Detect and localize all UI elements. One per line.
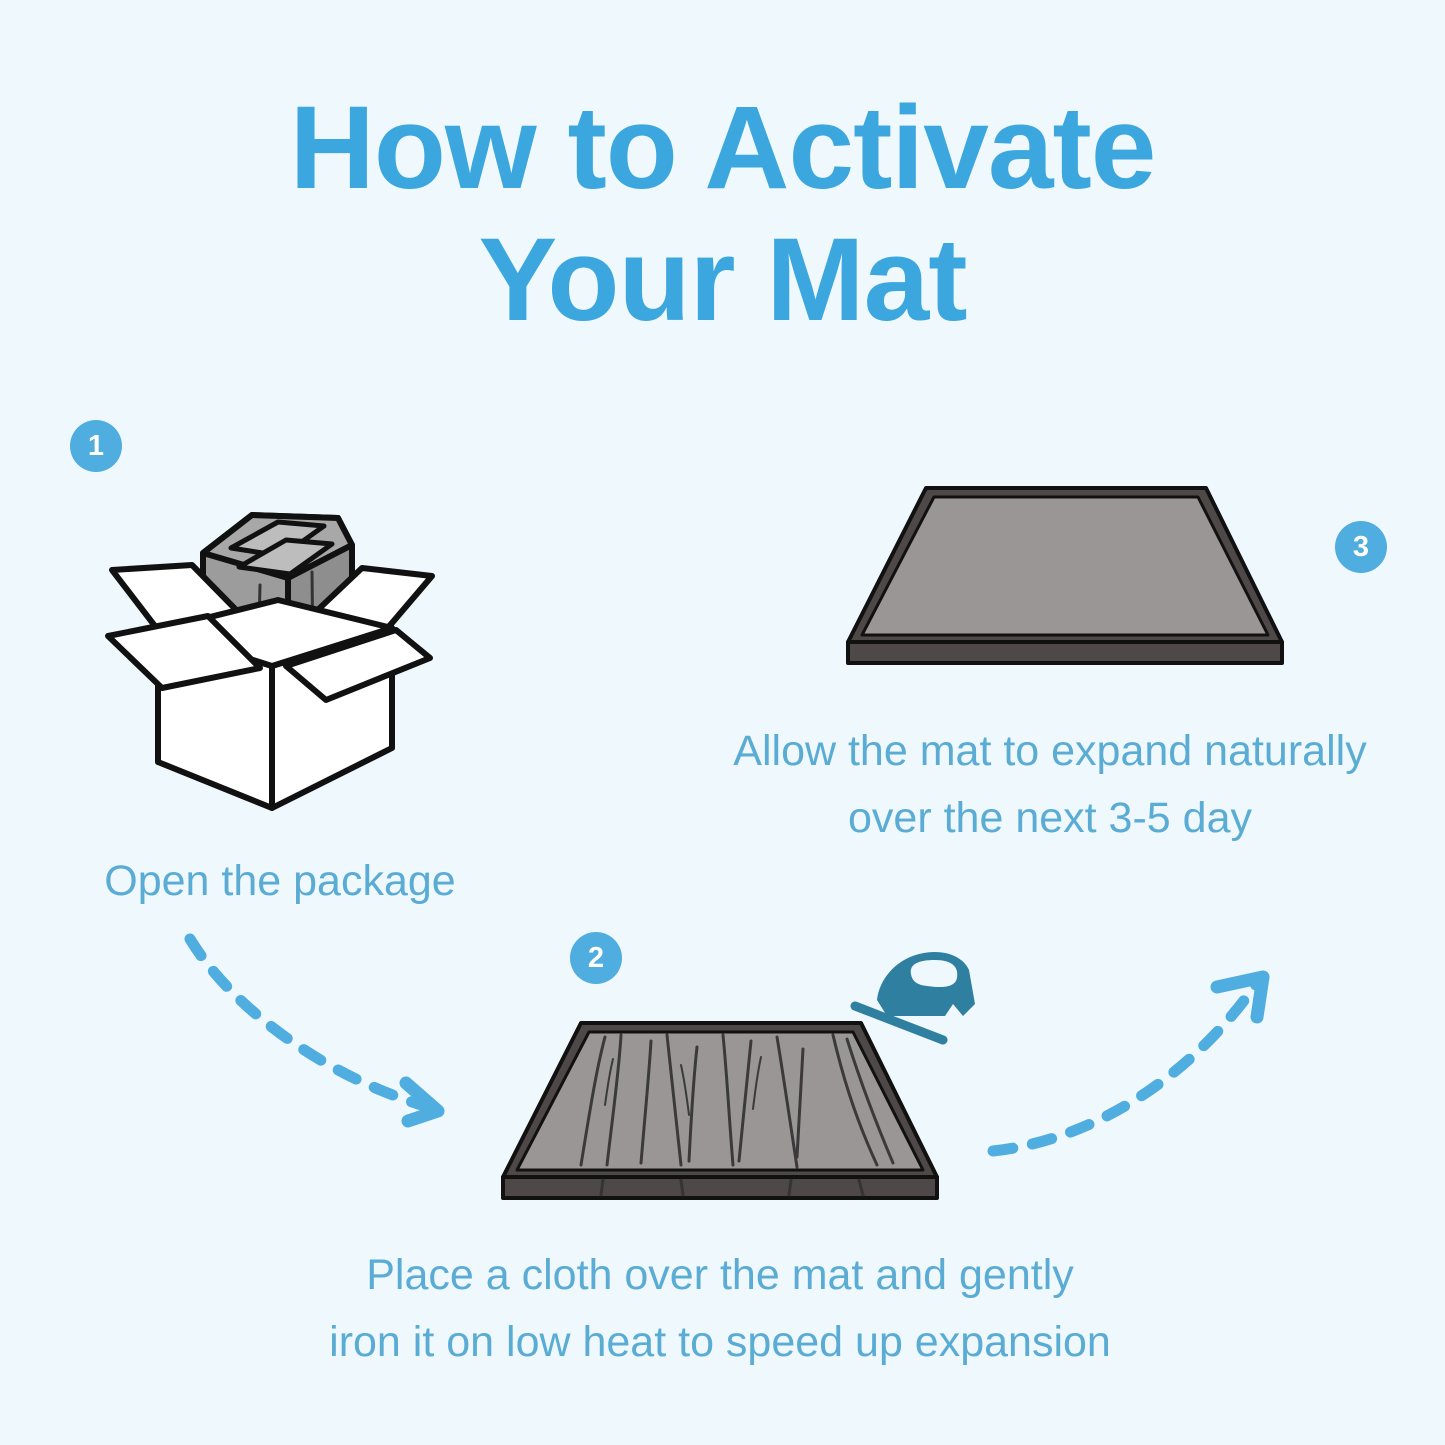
step-badge-2: 2	[570, 932, 622, 984]
step-3-caption: Allow the mat to expand naturally over t…	[660, 718, 1440, 851]
step-badge-1: 1	[70, 420, 122, 472]
arrow-step2-to-step3-icon	[975, 955, 1285, 1185]
expanded-mat-illustration	[830, 470, 1300, 685]
page-title: How to Activate Your Mat	[0, 82, 1445, 346]
step-1-caption: Open the package	[30, 848, 530, 915]
open-box-illustration	[100, 490, 445, 820]
infographic-root: How to Activate Your Mat 1	[0, 0, 1445, 1445]
page-title-line-2: Your Mat	[0, 214, 1445, 346]
page-title-line-1: How to Activate	[0, 82, 1445, 214]
arrow-step1-to-step2-icon	[170, 925, 480, 1130]
step-badge-3: 3	[1335, 521, 1387, 573]
step-2-caption: Place a cloth over the mat and gently ir…	[245, 1242, 1195, 1375]
